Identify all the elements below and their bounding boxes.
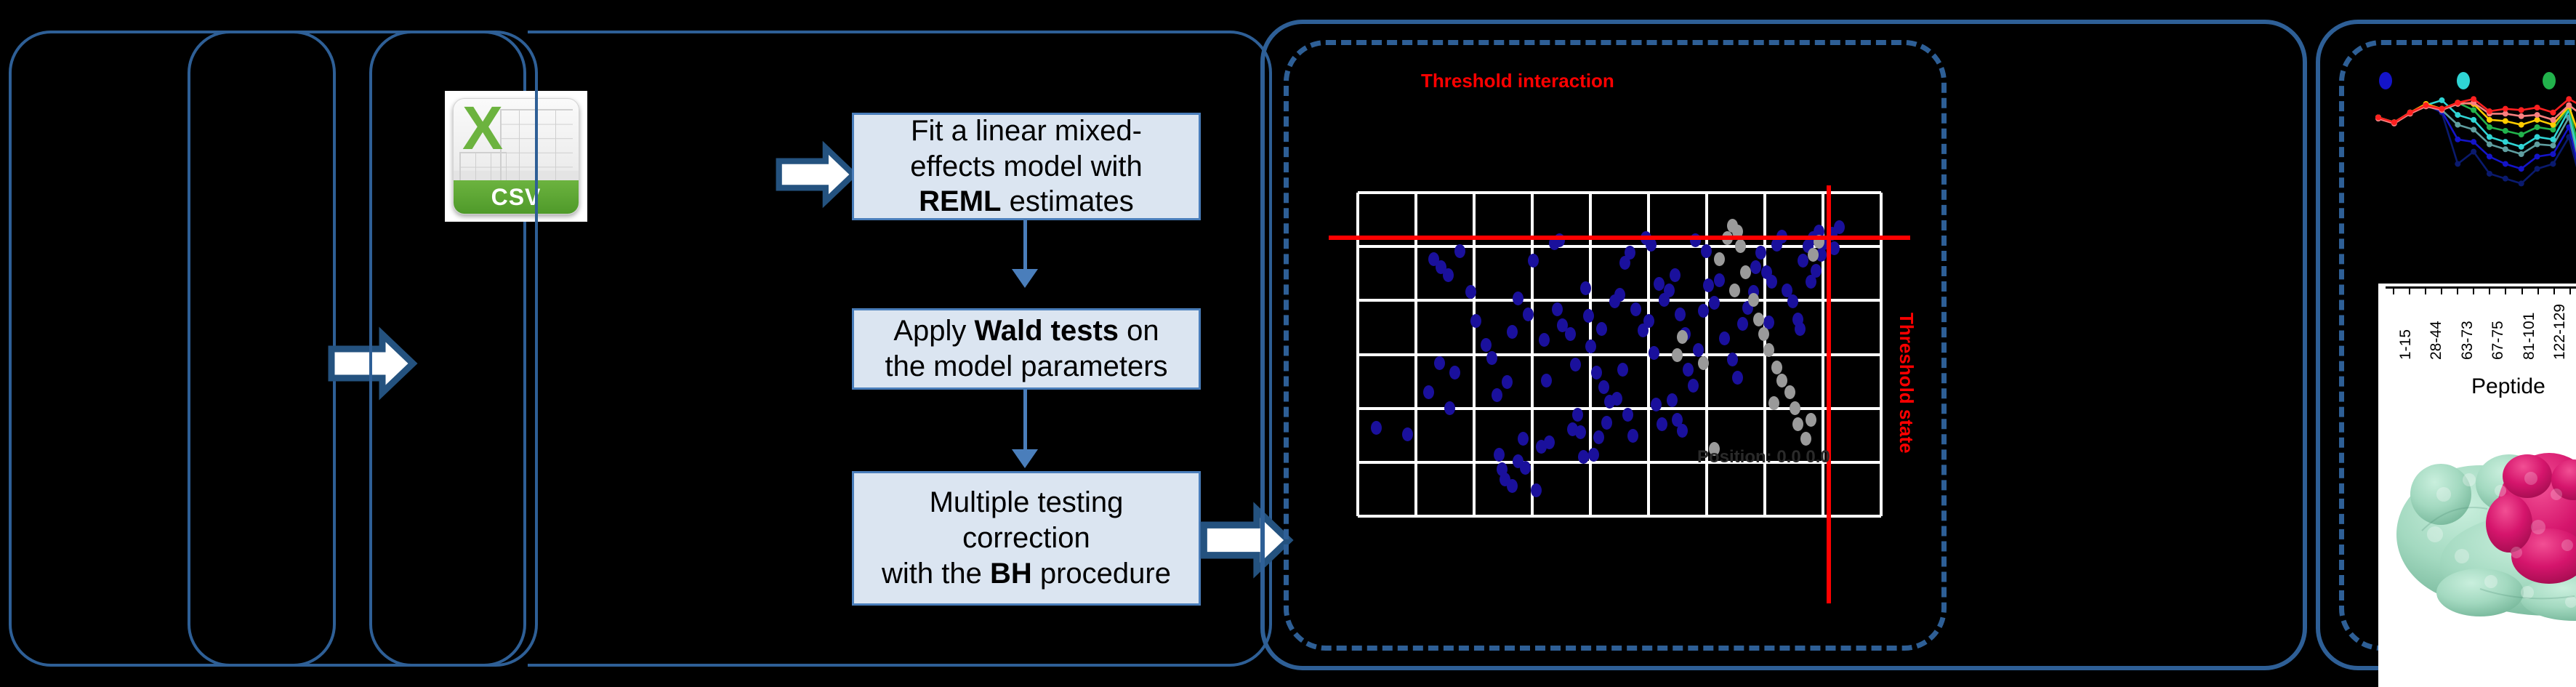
scatter-point xyxy=(1578,450,1589,464)
scatter-point xyxy=(1541,374,1552,387)
scatter-point xyxy=(1588,448,1599,462)
profile-point xyxy=(2519,144,2524,150)
gridline-horizontal xyxy=(1358,353,1881,356)
scatter-point xyxy=(1714,252,1725,266)
scatter-point xyxy=(1572,408,1583,422)
step1-line1: Fit a linear mixed- xyxy=(911,115,1142,147)
threshold-state-line xyxy=(1827,185,1831,603)
step3-line1: Multiple testing xyxy=(930,486,1124,518)
peptide-axis-tick xyxy=(2441,288,2442,294)
scatter-vertical-title: Threshold state xyxy=(1895,313,1917,454)
profile-point xyxy=(2439,106,2444,112)
scatter-point xyxy=(1667,393,1678,407)
profile-point xyxy=(2550,161,2556,166)
profile-point xyxy=(2519,132,2524,137)
profile-point xyxy=(2503,106,2508,112)
scatter-point xyxy=(1776,374,1787,387)
scatter-point xyxy=(1714,273,1725,287)
profile-point xyxy=(2519,151,2524,157)
scatter-title: Threshold interaction xyxy=(1421,70,1614,92)
scatter-point xyxy=(1454,244,1465,258)
step-multiple-testing: Multiple testing correction with the BH … xyxy=(852,471,1201,606)
scatter-plot-canvas xyxy=(1358,193,1881,516)
profile-point xyxy=(2471,117,2476,123)
profile-point xyxy=(2455,161,2460,166)
step2-line2: the model parameters xyxy=(885,350,1167,382)
scatter-point xyxy=(1575,425,1586,439)
scatter-point xyxy=(1806,413,1816,427)
profile-point xyxy=(2455,100,2460,105)
connector-step1-step2 xyxy=(1023,220,1027,275)
scatter-point xyxy=(1664,284,1675,297)
profile-point xyxy=(2439,97,2444,103)
scatter-point xyxy=(1834,220,1845,234)
peptide-axis-tick xyxy=(2473,288,2474,294)
profile-point xyxy=(2455,122,2460,128)
profile-point xyxy=(2519,113,2524,119)
profile-point xyxy=(2375,114,2381,120)
peptide-tick-label: 81-101 xyxy=(2521,313,2538,360)
scatter-point xyxy=(1536,440,1547,454)
profile-point xyxy=(2550,110,2556,116)
profile-point xyxy=(2503,176,2508,182)
pipeline-diagram: X CSV Fit a linear mixed- effects model … xyxy=(0,0,2576,687)
scatter-point xyxy=(1627,429,1638,443)
scatter-point xyxy=(1683,363,1694,377)
scatter-point xyxy=(1670,268,1681,282)
scatter-point xyxy=(1434,356,1445,370)
profile-point xyxy=(2423,103,2429,108)
step1-reml: REML xyxy=(919,185,1001,217)
scatter-point xyxy=(1675,308,1686,321)
profile-point xyxy=(2487,142,2492,148)
profile-point xyxy=(2550,137,2556,142)
peptide-axis-tick xyxy=(2553,288,2555,294)
profile-point xyxy=(2519,166,2524,172)
step3-bh: BH xyxy=(990,558,1032,590)
scatter-point xyxy=(1591,366,1602,379)
connector-step2-step3 xyxy=(1023,390,1027,455)
scatter-point xyxy=(1758,327,1769,341)
profile-point xyxy=(2550,151,2556,157)
scatter-point xyxy=(1808,248,1819,262)
scatter-point xyxy=(1753,313,1764,326)
step3-line2: correction xyxy=(962,522,1090,554)
profile-point xyxy=(2455,137,2460,142)
scatter-point xyxy=(1494,448,1505,462)
scatter-point xyxy=(1513,292,1524,305)
scatter-point xyxy=(1570,358,1581,371)
peptide-axis-tick xyxy=(2393,288,2394,294)
peptide-profile-chart xyxy=(2349,80,2576,204)
step2-apply: Apply xyxy=(893,315,974,347)
peptide-axis-label: Peptide xyxy=(2471,374,2545,399)
scatter-point xyxy=(1423,385,1434,399)
protein-structure-image xyxy=(2393,407,2576,625)
profile-point xyxy=(2566,103,2572,108)
peptide-tick-label: 28-44 xyxy=(2428,321,2445,360)
structure-inset: 1-1528-4463-7367-7581-101122-129135-1441… xyxy=(2378,284,2576,687)
scatter-point xyxy=(1787,294,1798,308)
peptide-axis-tick xyxy=(2457,288,2458,294)
scatter-point xyxy=(1596,322,1607,336)
scatter-point xyxy=(1518,432,1529,446)
scatter-point xyxy=(1449,366,1460,379)
scatter-point xyxy=(1481,338,1492,352)
scatter-point xyxy=(1486,351,1497,365)
scatter-point xyxy=(1703,278,1714,292)
profile-point xyxy=(2535,166,2540,172)
scatter-point xyxy=(1729,284,1740,297)
profile-point xyxy=(2487,108,2492,114)
profile-point xyxy=(2487,124,2492,130)
scatter-point xyxy=(1735,239,1746,253)
scatter-point xyxy=(1792,417,1803,431)
profile-point xyxy=(2550,117,2556,123)
step-wald-tests: Apply Wald tests on the model parameters xyxy=(852,308,1201,390)
profile-point xyxy=(2535,124,2540,130)
profile-point xyxy=(2471,139,2476,145)
scatter-point xyxy=(1688,379,1699,393)
scatter-plot xyxy=(1358,193,1881,516)
profile-point xyxy=(2519,122,2524,128)
scatter-point xyxy=(1443,268,1454,282)
peptide-axis-tick xyxy=(2409,288,2410,294)
profile-point xyxy=(2487,153,2492,159)
scatter-point xyxy=(1677,330,1688,344)
profile-point xyxy=(2471,126,2476,132)
scatter-point xyxy=(1790,401,1800,415)
step2-wald: Wald tests xyxy=(975,315,1119,347)
scatter-point xyxy=(1766,275,1777,289)
scatter-point xyxy=(1565,327,1576,341)
scatter-point xyxy=(1672,348,1683,362)
profile-point xyxy=(2503,128,2508,134)
profile-point xyxy=(2535,105,2540,111)
scatter-point xyxy=(1601,416,1612,430)
scatter-point xyxy=(1402,427,1413,441)
scatter-point xyxy=(1585,340,1596,353)
scatter-point xyxy=(1643,314,1654,328)
profile-point xyxy=(2519,107,2524,113)
scatter-point xyxy=(1698,356,1709,370)
threshold-interaction-line xyxy=(1329,236,1910,240)
profile-point xyxy=(2519,180,2524,186)
profile-point xyxy=(2503,118,2508,124)
scatter-point xyxy=(1740,265,1751,279)
scatter-point xyxy=(1371,421,1382,435)
scatter-point xyxy=(1677,424,1688,438)
profile-point xyxy=(2535,134,2540,140)
scatter-point xyxy=(1598,380,1609,394)
profile-point xyxy=(2487,171,2492,177)
peptide-axis-line xyxy=(2386,286,2576,289)
step-fit-model: Fit a linear mixed- effects model with R… xyxy=(852,113,1201,220)
connector-arrowhead-1 xyxy=(1012,269,1038,288)
scatter-point xyxy=(1649,346,1659,360)
step3-with: with the xyxy=(882,558,990,590)
peptide-tick-label: 63-73 xyxy=(2459,321,2476,360)
profile-point xyxy=(2535,153,2540,159)
scatter-overlay-text: Position: 0.0 0.0 xyxy=(1697,447,1830,467)
profile-point xyxy=(2503,161,2508,166)
scatter-point xyxy=(1654,277,1665,291)
scatter-point xyxy=(1622,408,1633,422)
peptide-tick-label: 67-75 xyxy=(2490,321,2507,360)
peptide-tick-label: 1-15 xyxy=(2397,329,2415,360)
peptide-axis-tick xyxy=(2505,288,2506,294)
profile-point xyxy=(2471,149,2476,155)
profile-point xyxy=(2503,139,2508,145)
scatter-point xyxy=(1727,353,1738,366)
scatter-point xyxy=(1593,430,1604,444)
scatter-point xyxy=(1617,363,1628,377)
scatter-point xyxy=(1531,483,1542,497)
peptide-axis-tick xyxy=(2569,288,2571,294)
scatter-point xyxy=(1507,479,1518,493)
gridline-horizontal xyxy=(1358,407,1881,410)
profile-y-tick-zero: 0.0 xyxy=(2346,280,2378,307)
profile-point xyxy=(2471,96,2476,102)
scatter-point xyxy=(1630,302,1641,316)
scatter-point xyxy=(1701,244,1712,258)
scatter-point xyxy=(1539,333,1550,347)
connector-arrowhead-2 xyxy=(1012,449,1038,468)
peptide-axis-tick xyxy=(2521,288,2523,294)
scatter-point xyxy=(1583,309,1594,323)
scatter-point xyxy=(1552,302,1563,316)
profile-point xyxy=(2407,110,2413,116)
gridline-horizontal xyxy=(1358,191,1881,194)
profile-point xyxy=(2455,112,2460,118)
panel-analysis xyxy=(369,31,538,667)
scatter-point xyxy=(1507,325,1518,339)
scatter-point xyxy=(1795,322,1806,336)
scatter-point xyxy=(1693,343,1704,357)
scatter-point xyxy=(1800,432,1811,446)
scatter-point xyxy=(1625,246,1635,260)
scatter-point xyxy=(1709,296,1720,310)
scatter-point xyxy=(1523,308,1534,321)
peptide-axis-tick xyxy=(2425,288,2426,294)
step2-on: on xyxy=(1119,315,1159,347)
scatter-point xyxy=(1798,254,1808,268)
scatter-point xyxy=(1444,401,1455,415)
profile-line xyxy=(2378,105,2576,197)
peptide-axis-tick xyxy=(2537,288,2539,294)
scatter-point xyxy=(1502,375,1513,389)
scatter-point xyxy=(1465,285,1476,299)
scatter-point xyxy=(1811,264,1822,278)
gridline-horizontal xyxy=(1358,515,1881,518)
scatter-point xyxy=(1657,417,1667,431)
step1-est: estimates xyxy=(1002,185,1134,217)
scatter-point xyxy=(1513,454,1524,468)
peptide-axis-tick xyxy=(2489,288,2490,294)
profile-point xyxy=(2535,112,2540,118)
scatter-point xyxy=(1784,385,1795,399)
profile-point xyxy=(2503,146,2508,152)
scatter-point xyxy=(1737,317,1748,331)
scatter-point xyxy=(1771,361,1782,374)
scatter-point xyxy=(1719,332,1730,345)
step3-proc: procedure xyxy=(1032,558,1171,590)
step1-line2: effects model with xyxy=(910,150,1142,182)
profile-point xyxy=(2535,142,2540,148)
profile-point xyxy=(2487,134,2492,140)
profile-point xyxy=(2550,142,2556,148)
profile-point xyxy=(2471,107,2476,113)
peptide-tick-label: 122-129 xyxy=(2551,304,2569,360)
scatter-point xyxy=(1470,314,1481,328)
scatter-point xyxy=(1763,343,1774,357)
scatter-point xyxy=(1750,260,1761,274)
scatter-point xyxy=(1611,392,1622,406)
profile-point xyxy=(2487,117,2492,123)
scatter-point xyxy=(1732,371,1743,385)
scatter-point xyxy=(1748,293,1759,307)
scatter-point xyxy=(1492,388,1502,402)
scatter-point xyxy=(1528,254,1539,268)
profile-point xyxy=(2566,96,2572,102)
profile-point xyxy=(2391,119,2397,125)
